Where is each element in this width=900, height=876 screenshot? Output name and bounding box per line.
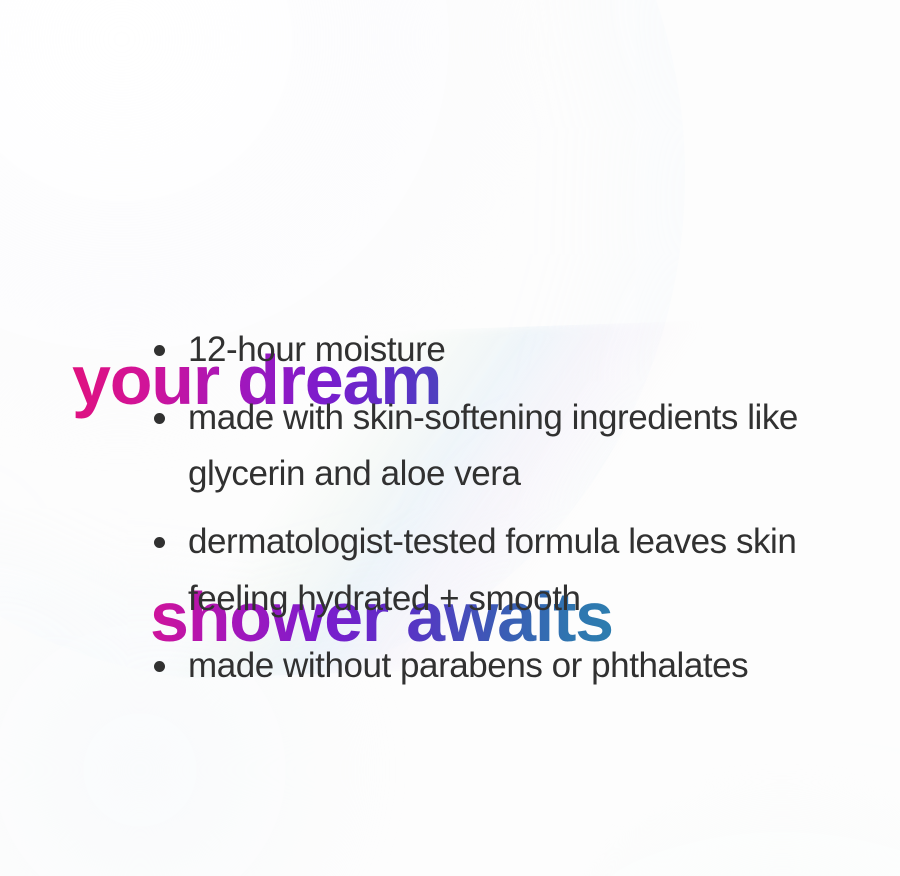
promo-card: your dream shower awaits 12-hour moistur… xyxy=(0,0,900,876)
list-item: made with skin-softening ingredients lik… xyxy=(150,390,890,503)
list-item-label: dermatologist-tested formula leaves skin… xyxy=(188,522,796,618)
bullet-dot-icon xyxy=(154,413,165,424)
list-item: dermatologist-tested formula leaves skin… xyxy=(150,514,890,627)
list-item: made without parabens or phthalates xyxy=(150,638,890,695)
benefits-list: 12-hour moisture made with skin-softenin… xyxy=(150,322,890,706)
list-item: 12-hour moisture xyxy=(150,322,890,379)
bullet-dot-icon xyxy=(154,345,165,356)
bullet-dot-icon xyxy=(154,537,165,548)
list-item-label: 12-hour moisture xyxy=(188,330,445,369)
bullet-dot-icon xyxy=(154,661,165,672)
list-item-label: made without parabens or phthalates xyxy=(188,646,748,685)
list-item-label: made with skin-softening ingredients lik… xyxy=(188,398,798,494)
